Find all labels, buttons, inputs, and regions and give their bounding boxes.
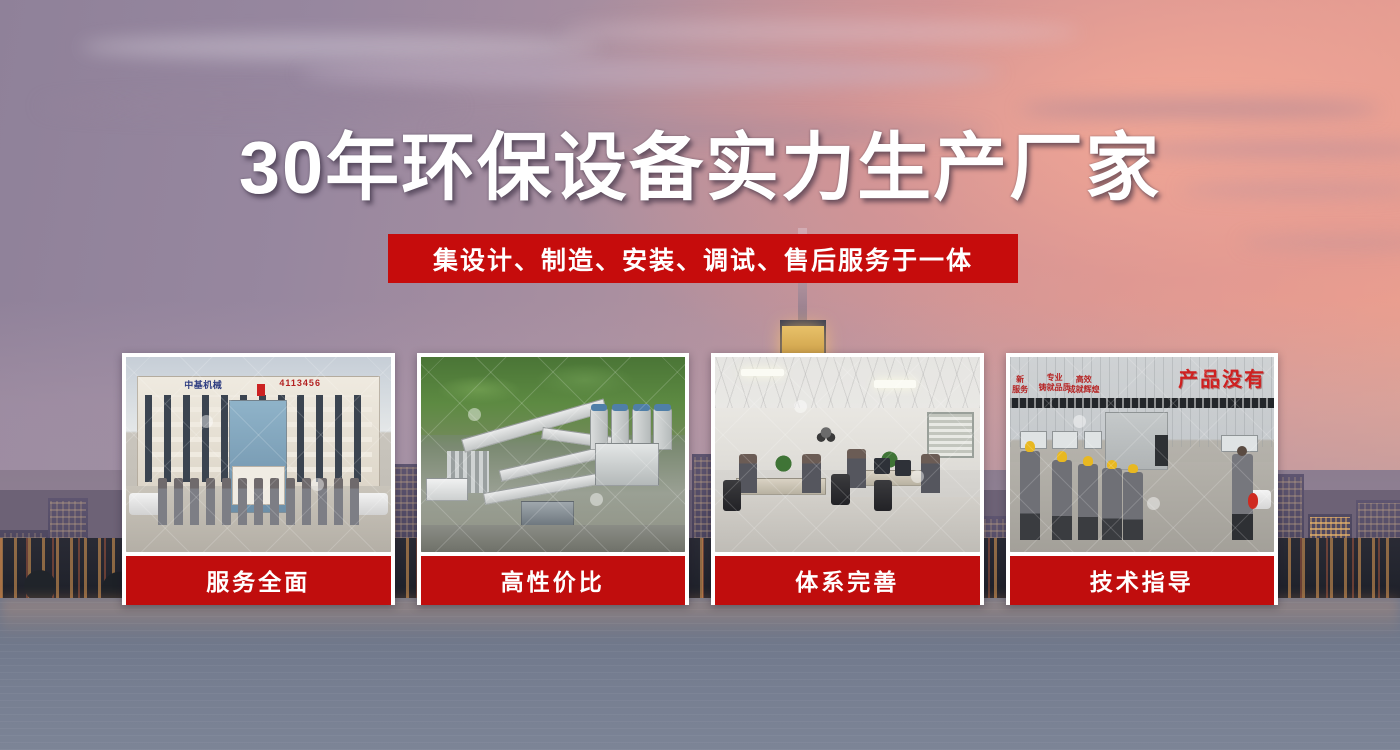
subtitle-text: 集设计、制造、安装、调试、售后服务于一体 [433,241,973,277]
wall-decal [810,415,842,446]
office-ceiling [715,357,980,408]
photo-office-workspace [715,357,980,552]
card-caption-text: 高性价比 [501,563,605,597]
card-caption-text: 技术指导 [1090,563,1194,597]
card-caption: 技术指导 [1010,556,1275,605]
office-chair [874,480,893,511]
river-water [0,598,1400,750]
photo-company-headquarters: 中基机械 4113456 [126,357,391,552]
office-window-blinds [927,412,975,459]
worker-with-hardhat [1102,468,1122,540]
facade-window-band [1010,398,1275,408]
feature-card[interactable]: 中基机械 4113456 [122,353,395,605]
plant-building [595,443,658,486]
page-title: 30年环保设备实力生产厂家 [0,128,1400,208]
card-caption: 体系完善 [715,556,980,605]
staff-member [174,478,183,525]
office-worker [847,449,866,488]
plant-building [426,478,468,501]
company-phone-text: 4113456 [279,378,321,388]
factory-sign-text: 产品没有 [1178,363,1266,392]
cloud-band [560,20,1080,44]
cloud-band [40,96,460,116]
watermark-dot [468,408,481,421]
computer-monitor [895,460,911,476]
feature-card[interactable]: 产品没有 新服务 专业铸就品质 高效成就辉煌 [1006,353,1279,605]
feature-card-list: 中基机械 4113456 [122,353,1278,605]
staff-member [190,478,199,525]
staff-member [334,478,343,525]
worker-with-hardhat [1078,464,1098,540]
staff-member [254,478,263,525]
staff-lineup [158,478,359,525]
office-chair [831,474,850,505]
card-caption: 高性价比 [421,556,686,605]
staff-member [206,478,215,525]
card-caption: 服务全面 [126,556,391,605]
cloud-band [80,34,600,60]
card-caption-text: 服务全面 [206,563,310,597]
staff-member [270,478,279,525]
ceiling-light [874,380,916,388]
watermark-dot [590,493,603,506]
factory-slogan: 专业铸就品质 [1039,373,1071,393]
worker-with-hardhat [1123,472,1143,540]
office-worker [921,454,940,493]
cloud-band [300,58,1000,88]
office-chair [723,480,742,511]
office-worker [739,454,758,493]
cloud-band [1240,236,1400,249]
plant-building [521,501,574,526]
red-helmet [1248,493,1259,509]
staff-member [286,478,295,525]
office-worker [802,454,821,493]
worker-with-hardhat [1020,451,1040,541]
factory-side-door [1155,435,1168,466]
feature-card[interactable]: 高性价比 [417,353,690,605]
watermark-dot [911,470,924,483]
staff-member [222,478,231,525]
ceiling-light [741,369,783,377]
office-floor [715,497,980,552]
factory-slogan: 高效成就辉煌 [1068,375,1100,395]
staff-member [158,478,167,525]
staff-member [350,478,359,525]
photo-workshop-training: 产品没有 新服务 专业铸就品质 高效成就辉煌 [1010,357,1275,552]
factory-window [1084,431,1103,449]
cloud-band [1020,98,1380,120]
factory-window [1052,431,1078,449]
staff-member [238,478,247,525]
feature-card[interactable]: 体系完善 [711,353,984,605]
photo-production-base-aerial [421,357,686,552]
factory-slogan: 新服务 [1012,375,1028,395]
promo-banner: 30年环保设备实力生产厂家 集设计、制造、安装、调试、售后服务于一体 中基机械 … [0,0,1400,750]
potted-plant [773,451,794,472]
worker-with-hardhat [1052,460,1072,540]
card-caption-text: 体系完善 [795,563,899,597]
flag-icon [257,384,265,396]
watermark-dot [311,478,324,491]
company-sign-text: 中基机械 [184,378,222,391]
subtitle-bar: 集设计、制造、安装、调试、售后服务于一体 [388,234,1018,283]
computer-monitor [874,458,890,474]
staff-member [302,478,311,525]
site-road [421,525,686,552]
